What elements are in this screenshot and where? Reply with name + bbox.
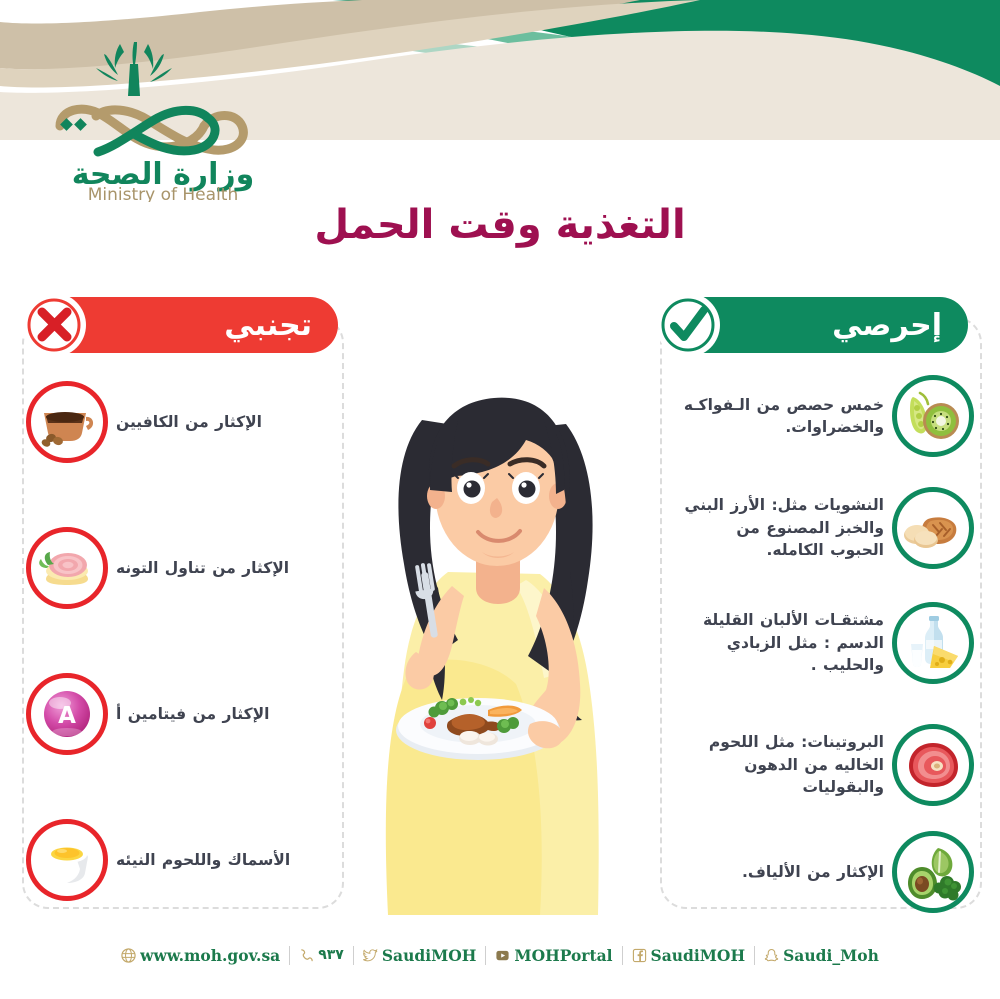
list-item[interactable]: خمس حصص من الـفواكـه والخضراوات. — [674, 366, 974, 466]
facebook-icon — [632, 948, 647, 963]
list-item-label: الإكثار من الألياف. — [674, 861, 892, 883]
footer-contact-bar: www.moh.gov.sa ٩٣٧ SaudiMOH — [0, 938, 1000, 972]
avoid-badge: تجنبي — [28, 297, 338, 353]
page-title: التغذية وقت الحمل — [0, 200, 1000, 250]
list-item-label: الإكثار من فيتامين أ — [108, 703, 326, 725]
list-item[interactable]: النشويات مثل: الأرز البني والخبز المصنوع… — [674, 478, 974, 578]
list-item[interactable]: الإكثار من تناول التونه — [26, 518, 326, 618]
list-item[interactable]: مشتقـات الألبان القليلة الدسم : مثل الزب… — [674, 593, 974, 693]
list-item-label: الإكثار من الكافيين — [108, 411, 326, 433]
list-item-label: الأسماك واللحوم النيئه — [108, 849, 326, 871]
recommend-badge: إحرصي — [662, 297, 968, 353]
list-item-label: مشتقـات الألبان القليلة الدسم : مثل الزب… — [674, 609, 892, 676]
list-item-label: البروتينات: مثل اللحوم الخاليه من الدهون… — [674, 731, 892, 798]
footer-website-label: www.moh.gov.sa — [140, 946, 280, 965]
youtube-icon — [495, 948, 510, 963]
list-item-label: النشويات مثل: الأرز البني والخبز المصنوع… — [674, 494, 892, 561]
check-mark-circle-icon — [656, 293, 720, 357]
footer-phone[interactable]: ٩٣٧ — [290, 947, 353, 963]
kiwi-peas-icon — [892, 375, 974, 457]
list-item[interactable]: الأسماك واللحوم النيئه — [26, 810, 326, 910]
dairy-milk-cheese-icon — [892, 602, 974, 684]
vitamin-a-pill-icon: A — [26, 673, 108, 755]
list-item[interactable]: الإكثار من الكافيين — [26, 372, 326, 472]
footer-youtube-label: MOHPortal — [514, 946, 612, 965]
x-mark-circle-icon — [22, 293, 86, 357]
list-item-label: الإكثار من تناول التونه — [108, 557, 326, 579]
svg-text:A: A — [58, 703, 76, 729]
footer-twitter-label: SaudiMOH — [382, 946, 477, 965]
lean-meat-icon — [892, 724, 974, 806]
bread-icon — [892, 487, 974, 569]
list-item[interactable]: الإكثار من الألياف. — [674, 822, 974, 922]
raw-egg-icon — [26, 819, 108, 901]
ministry-of-health-logo: وزارة الصحة Ministry of Health — [38, 34, 288, 202]
snapchat-icon — [764, 948, 779, 963]
footer-facebook[interactable]: SaudiMOH — [623, 946, 755, 965]
footer-snapchat[interactable]: Saudi_Moh — [755, 946, 888, 965]
list-item[interactable]: البروتينات: مثل اللحوم الخاليه من الدهون… — [674, 715, 974, 815]
footer-snapchat-label: Saudi_Moh — [783, 946, 879, 965]
footer-facebook-label: SaudiMOH — [651, 946, 746, 965]
tuna-can-icon — [26, 527, 108, 609]
footer-website[interactable]: www.moh.gov.sa — [112, 946, 289, 965]
pregnant-woman-eating-illustration — [330, 340, 680, 915]
list-item-label: خمس حصص من الـفواكـه والخضراوات. — [674, 394, 892, 439]
avoid-items-list: الإكثار من الكافيين الإكثار من تناول الت… — [22, 330, 340, 905]
footer-youtube[interactable]: MOHPortal — [486, 946, 621, 965]
footer-phone-label: ٩٣٧ — [318, 947, 344, 963]
phone-icon — [299, 948, 314, 963]
recommend-items-list: خمس حصص من الـفواكـه والخضراوات. النشويا… — [660, 330, 978, 905]
avocado-greens-icon — [892, 831, 974, 913]
palm-tree-glyph — [96, 42, 172, 96]
footer-twitter[interactable]: SaudiMOH — [354, 946, 486, 965]
twitter-icon — [363, 948, 378, 963]
list-item[interactable]: A الإكثار من فيتامين أ — [26, 664, 326, 764]
globe-icon — [121, 948, 136, 963]
coffee-cup-icon — [26, 381, 108, 463]
infographic-canvas: وزارة الصحة Ministry of Health التغذية و… — [0, 0, 1000, 999]
